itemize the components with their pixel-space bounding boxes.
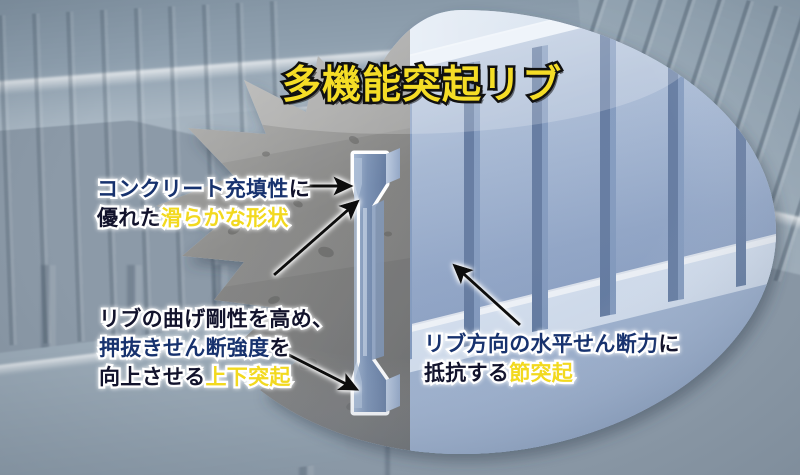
callout-horizontal-shear-line1: リブ方向の水平せん断力に <box>424 331 680 358</box>
callout-2-navy: 押抜きせん断強度 <box>99 336 269 360</box>
callout-punching-shear-line3: 向上させる上下突起 <box>99 364 291 391</box>
figure-title: 多機能突起リブ <box>282 66 562 105</box>
callout-3-yellow: 節突起 <box>509 361 573 385</box>
callout-2-dark1: リブの曲げ剛性を高め、 <box>99 307 333 331</box>
callout-3-dark2: 抵抗する <box>424 361 509 385</box>
callout-1-dark2: 優れた <box>97 206 161 230</box>
callout-3-dark1: に <box>658 332 679 356</box>
callout-2-dark3: 向上させる <box>99 365 206 389</box>
callout-concrete-fill-line1: コンクリート充填性に <box>97 176 310 203</box>
callout-3-navy: リブ方向の水平せん断力 <box>424 332 658 356</box>
callout-horizontal-shear-line2: 抵抗する節突起 <box>424 360 573 387</box>
callout-1-navy: コンクリート充填性 <box>97 177 289 201</box>
callout-2-dark2: を <box>269 336 290 360</box>
callout-punching-shear-line2: 押抜きせん断強度を <box>99 335 291 362</box>
callout-punching-shear-line1: リブの曲げ剛性を高め、 <box>99 306 333 333</box>
callout-concrete-fill-line2: 優れた滑らかな形状 <box>97 205 289 232</box>
callout-1-yellow: 滑らかな形状 <box>161 206 289 230</box>
callout-1-dark: に <box>289 177 310 201</box>
callout-2-yellow: 上下突起 <box>206 365 291 389</box>
figure-canvas: 多機能突起リブ コンクリート充填性に 優れた滑らかな形状 リブの曲げ剛性を高め、… <box>0 0 800 475</box>
